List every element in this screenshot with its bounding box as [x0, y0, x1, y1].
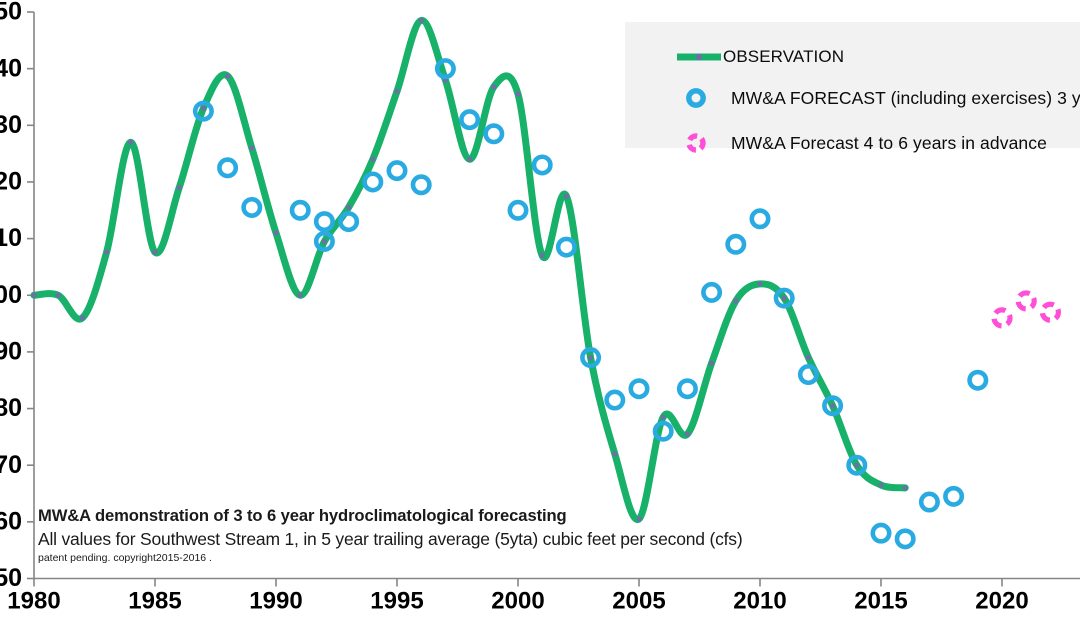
x-axis-tick-label: 1990: [249, 587, 302, 614]
legend-item-forecast-3yr[interactable]: MW&A FORECAST (including exercises) 3 ye…: [675, 87, 1080, 109]
observation-point-marker: [370, 157, 375, 162]
observation-point-marker: [564, 194, 569, 199]
open-circle-icon: [675, 87, 717, 109]
observation-point-marker: [249, 145, 254, 150]
forecast-3yr-point-marker: [679, 381, 695, 397]
observation-point-marker: [540, 253, 545, 258]
observation-point-marker: [782, 295, 787, 300]
y-axis-tick-label: 100: [0, 281, 22, 309]
observation-point-marker: [419, 18, 424, 23]
observation-point-marker: [104, 250, 109, 255]
x-axis-tick-label: 1985: [128, 587, 181, 614]
forecast-3yr-point-marker: [219, 160, 235, 176]
x-axis-tick-label: 2020: [975, 587, 1028, 614]
y-axis-tick-label: 130: [0, 111, 22, 139]
forecast-3yr-point-marker: [486, 126, 502, 142]
observation-point-marker: [322, 239, 327, 244]
observation-point-marker: [80, 315, 85, 320]
observation-point-marker: [903, 485, 908, 490]
forecast-3yr-point-marker: [292, 202, 308, 218]
x-axis-tick-label: 2005: [612, 587, 665, 614]
annotation-title: MW&A demonstration of 3 to 6 year hydroc…: [38, 505, 658, 527]
forecast-3yr-point-marker: [316, 213, 332, 229]
forecast-3yr-point-marker: [873, 525, 889, 541]
observation-point-marker: [177, 185, 182, 190]
observation-point-marker: [152, 250, 157, 255]
observation-point-marker: [757, 281, 762, 286]
legend-label-forecast-3yr: MW&A FORECAST (including exercises) 3 ye…: [731, 88, 1080, 109]
forecast-3yr-point-marker: [703, 284, 719, 300]
y-axis-tick-label: 90: [0, 338, 22, 366]
forecast-3yr-point-marker: [534, 157, 550, 173]
x-axis-tick-labels: 198019851990199520002005201020152020: [7, 587, 1028, 614]
y-axis-tick-labels: 1501401301201101009080706050: [0, 0, 22, 592]
observation-point-marker: [394, 89, 399, 94]
observation-point-marker: [201, 106, 206, 111]
forecast-3yr-point-marker: [413, 177, 429, 193]
y-axis-tick-label: 120: [0, 168, 22, 196]
chart-legend: OBSERVATION MW&A FORECAST (including exe…: [625, 22, 1080, 148]
y-axis-tick-label: 110: [0, 224, 22, 252]
legend-label-observation: OBSERVATION: [723, 47, 844, 67]
forecast-4to6yr-markers: [994, 293, 1058, 326]
x-axis-tick-label: 1995: [370, 587, 423, 614]
forecast-3yr-point-marker: [607, 392, 623, 408]
forecast-3yr-point-marker: [558, 239, 574, 255]
forecast-3yr-point-marker: [461, 111, 477, 127]
forecast-3yr-point-marker: [921, 494, 937, 510]
chart-container: 1501401301201101009080706050 19801985199…: [0, 0, 1080, 622]
observation-point-marker: [588, 355, 593, 360]
legend-line-with-dot-icon: [675, 46, 723, 68]
forecast-3yr-point-marker: [897, 531, 913, 547]
forecast-3yr-point-marker: [389, 162, 405, 178]
annotation-subtitle: All values for Southwest Stream 1, in 5 …: [38, 527, 658, 551]
observation-point-marker: [806, 355, 811, 360]
observation-point-marker: [346, 205, 351, 210]
forecast-3yr-point-marker: [970, 372, 986, 388]
forecast-3yr-point-marker: [631, 381, 647, 397]
forecast-3yr-point-marker: [945, 488, 961, 504]
legend-item-observation[interactable]: OBSERVATION: [675, 46, 844, 68]
observation-point-marker: [830, 403, 835, 408]
observation-point-marker: [56, 293, 61, 298]
y-axis-tick-label: 80: [0, 394, 22, 422]
forecast-4to6yr-point-marker: [1042, 304, 1058, 320]
x-axis-tick-label: 1980: [7, 587, 60, 614]
x-axis-tick-label: 2010: [733, 587, 786, 614]
observation-point-marker: [273, 230, 278, 235]
y-axis-tick-label: 150: [0, 0, 22, 26]
forecast-4to6yr-point-marker: [1018, 293, 1034, 309]
annotation-footnote: patent pending. copyright2015-2016 .: [38, 551, 658, 566]
observation-point-marker: [128, 140, 133, 145]
observation-point-marker: [709, 361, 714, 366]
observation-point-marker: [515, 92, 520, 97]
x-axis-tick-label: 2000: [491, 587, 544, 614]
legend-item-forecast-4to6yr[interactable]: MW&A Forecast 4 to 6 years in advance: [675, 132, 1047, 154]
observation-point-marker: [491, 84, 496, 89]
observation-point-marker: [225, 73, 230, 78]
forecast-3yr-point-marker: [728, 236, 744, 252]
observation-point-marker: [31, 293, 36, 298]
observation-point-marker: [733, 298, 738, 303]
forecast-3yr-point-marker: [365, 174, 381, 190]
observation-point-marker: [878, 482, 883, 487]
y-axis-tick-label: 60: [0, 507, 22, 535]
observation-point-marker: [685, 431, 690, 436]
observation-point-marker: [467, 157, 472, 162]
legend-label-forecast-4to6yr: MW&A Forecast 4 to 6 years in advance: [731, 133, 1047, 154]
forecast-3yr-point-marker: [244, 199, 260, 215]
observation-point-marker: [298, 293, 303, 298]
x-axis-tick-label: 2015: [854, 587, 907, 614]
y-axis-tick-label: 70: [0, 451, 22, 479]
y-axis-tick-label: 140: [0, 54, 22, 82]
forecast-3yr-point-marker: [510, 202, 526, 218]
observation-point-marker: [612, 451, 617, 456]
chart-annotations: MW&A demonstration of 3 to 6 year hydroc…: [38, 505, 658, 566]
observation-point-marker: [854, 463, 859, 468]
forecast-4to6yr-point-marker: [994, 310, 1010, 326]
forecast-3yr-point-marker: [752, 211, 768, 227]
observation-point-marker: [661, 414, 666, 419]
dashed-circle-icon: [675, 132, 717, 154]
